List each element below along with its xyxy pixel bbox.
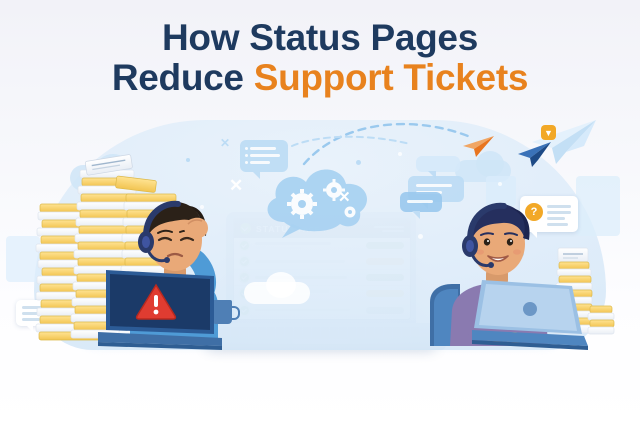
headline-line-1: How Status Pages bbox=[0, 18, 640, 58]
headline-line-2: Reduce Support Tickets bbox=[0, 58, 640, 98]
warning-triangle-icon bbox=[135, 282, 177, 325]
x-mark-icon: ✕ bbox=[338, 188, 351, 206]
sparkle-dot bbox=[498, 182, 502, 186]
dashed-path bbox=[290, 132, 420, 158]
headline-line-2-plain: Reduce bbox=[112, 57, 254, 98]
mug-handle-icon bbox=[230, 306, 240, 320]
x-mark-icon: ✕ bbox=[220, 136, 230, 150]
paper-plane-orange-icon bbox=[461, 134, 495, 158]
paper-plane-navy-icon bbox=[516, 140, 552, 168]
sparkle-dot bbox=[186, 158, 190, 162]
headline-line-2-accent: Support Tickets bbox=[254, 57, 528, 98]
chat-bubble-icon bbox=[240, 140, 288, 172]
plane-badge-icon: ▼ bbox=[541, 125, 556, 140]
sparkle-dot bbox=[418, 234, 423, 239]
page-title: How Status Pages Reduce Support Tickets bbox=[0, 18, 640, 98]
document-strip bbox=[576, 176, 620, 236]
right-laptop bbox=[472, 276, 588, 350]
illustration-canvas: ✕ ✕ ✕ ✕ ? bbox=[0, 0, 640, 427]
cloud-icon bbox=[266, 272, 296, 298]
